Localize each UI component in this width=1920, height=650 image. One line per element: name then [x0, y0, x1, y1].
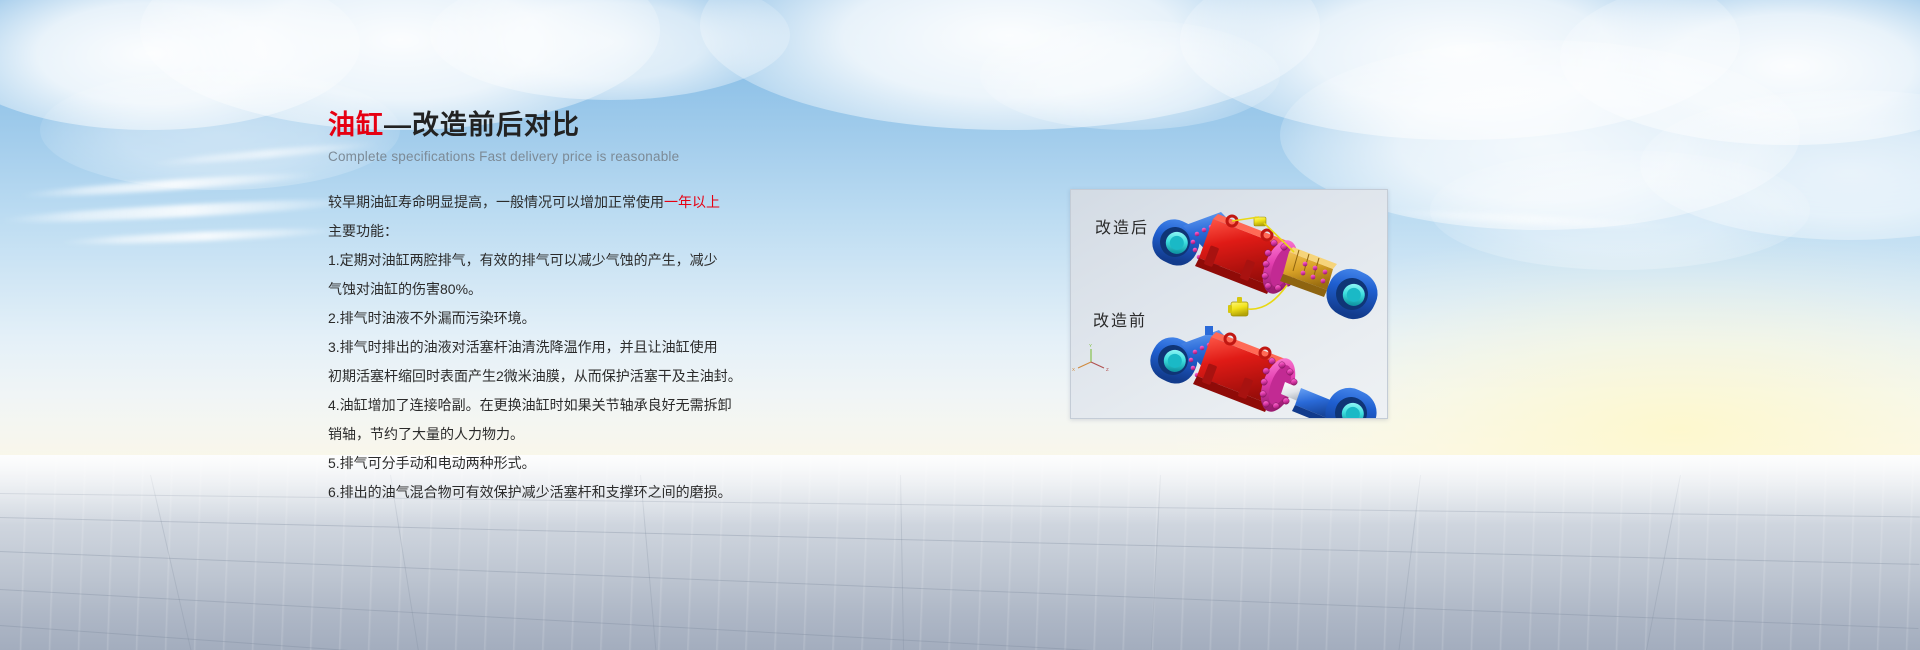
- banner-stage: 油缸—改造前后对比 Complete specifications Fast d…: [0, 0, 1920, 650]
- intro-prefix: 较早期油缸寿命明显提高，一般情况可以增加正常使用: [328, 194, 664, 210]
- axis-triad-icon: Y X Z: [1072, 343, 1109, 372]
- list-item: 4.油缸增加了连接哈副。在更换油缸时如果关节轴承良好无需拆卸: [328, 391, 968, 420]
- features-heading: 主要功能：: [328, 217, 968, 246]
- page-subtitle: Complete specifications Fast delivery pr…: [328, 148, 968, 166]
- banner-copy: 油缸—改造前后对比 Complete specifications Fast d…: [328, 108, 968, 507]
- list-item: 5.排气可分手动和电动两种形式。: [328, 449, 968, 478]
- list-item: 初期活塞杆缩回时表面产生2微米油膜，从而保护活塞干及主油封。: [328, 362, 968, 391]
- intro-highlight: 一年以上: [664, 194, 720, 210]
- cylinder-before: [1144, 326, 1384, 418]
- list-item: 3.排气时排出的油液对活塞杆油清洗降温作用，并且让油缸使用: [328, 333, 968, 362]
- list-item: 6.排出的油气混合物可有效保护减少活塞杆和支撑环之间的磨损。: [328, 478, 968, 507]
- list-item: 2.排气时油液不外漏而污染环境。: [328, 304, 968, 333]
- product-comparison-image: Y X Z 改造后 改造前: [1070, 189, 1388, 419]
- page-title: 油缸—改造前后对比: [328, 108, 968, 142]
- intro-line: 较早期油缸寿命明显提高，一般情况可以增加正常使用一年以上: [328, 188, 968, 217]
- list-item: 销轴，节约了大量的人力物力。: [328, 420, 968, 449]
- page-title-highlight: 油缸: [328, 110, 384, 140]
- label-after: 改造后: [1095, 214, 1149, 238]
- svg-text:Y: Y: [1089, 343, 1092, 348]
- feature-list: 较早期油缸寿命明显提高，一般情况可以增加正常使用一年以上 主要功能： 1.定期对…: [328, 188, 968, 507]
- svg-text:X: X: [1072, 367, 1075, 372]
- page-title-rest: —改造前后对比: [384, 110, 580, 140]
- list-item: 1.定期对油缸两腔排气，有效的排气可以减少气蚀的产生，减少: [328, 246, 968, 275]
- cylinder-after: [1146, 212, 1385, 327]
- label-before: 改造前: [1093, 307, 1147, 331]
- svg-text:Z: Z: [1106, 367, 1109, 372]
- list-item: 气蚀对油缸的伤害80%。: [328, 275, 968, 304]
